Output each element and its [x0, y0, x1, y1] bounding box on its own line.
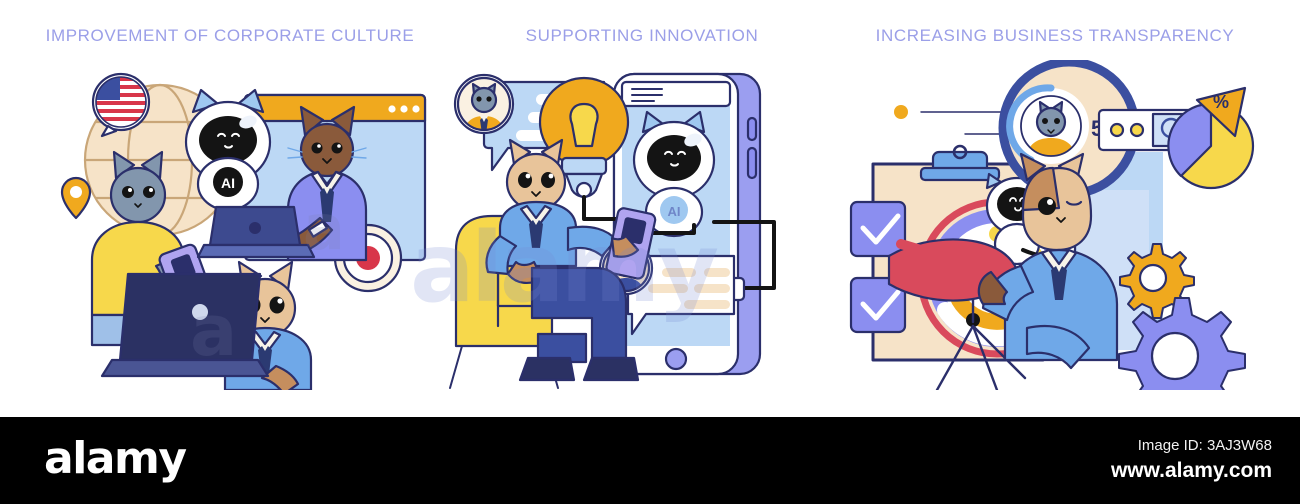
checkbox-checked-1	[851, 202, 905, 256]
pie-chart: %	[1168, 88, 1253, 188]
panel-title-3: INCREASING BUSINESS TRANSPARENCY	[845, 26, 1265, 46]
percent-symbol-label: %	[1213, 92, 1229, 112]
laptop-icon-main	[102, 274, 268, 376]
image-id-label: Image ID: 3AJ3W68	[1012, 437, 1272, 454]
alamy-url-label: www.alamy.com	[1012, 459, 1272, 483]
illustration-panel-business-transparency: 50% %	[845, 60, 1265, 390]
alamy-watermark-bar: alamy Image ID: 3AJ3W68 www.alamy.com	[0, 417, 1300, 504]
ai-robot-avatar: AI	[186, 90, 270, 210]
ai-badge-label: AI	[668, 204, 681, 219]
alamy-logo: alamy	[44, 437, 186, 481]
panel3-artwork: 50% %	[845, 60, 1265, 390]
cat-tan-worker	[102, 262, 311, 390]
illustration-panel-supporting-innovation: AI	[432, 60, 852, 390]
location-pin-icon	[62, 178, 90, 218]
panel-title-1: IMPROVEMENT OF CORPORATE CULTURE	[20, 26, 440, 46]
ai-badge-label: AI	[221, 175, 235, 191]
panel-title-2: SUPPORTING INNOVATION	[432, 26, 852, 46]
panel2-artwork: AI	[432, 60, 852, 390]
illustration-panel-corporate-culture: AI	[20, 60, 440, 390]
panel1-artwork: AI	[20, 60, 440, 390]
decor-dot	[894, 105, 908, 119]
stock-illustration-page: IMPROVEMENT OF CORPORATE CULTURE SUPPORT…	[0, 0, 1300, 504]
